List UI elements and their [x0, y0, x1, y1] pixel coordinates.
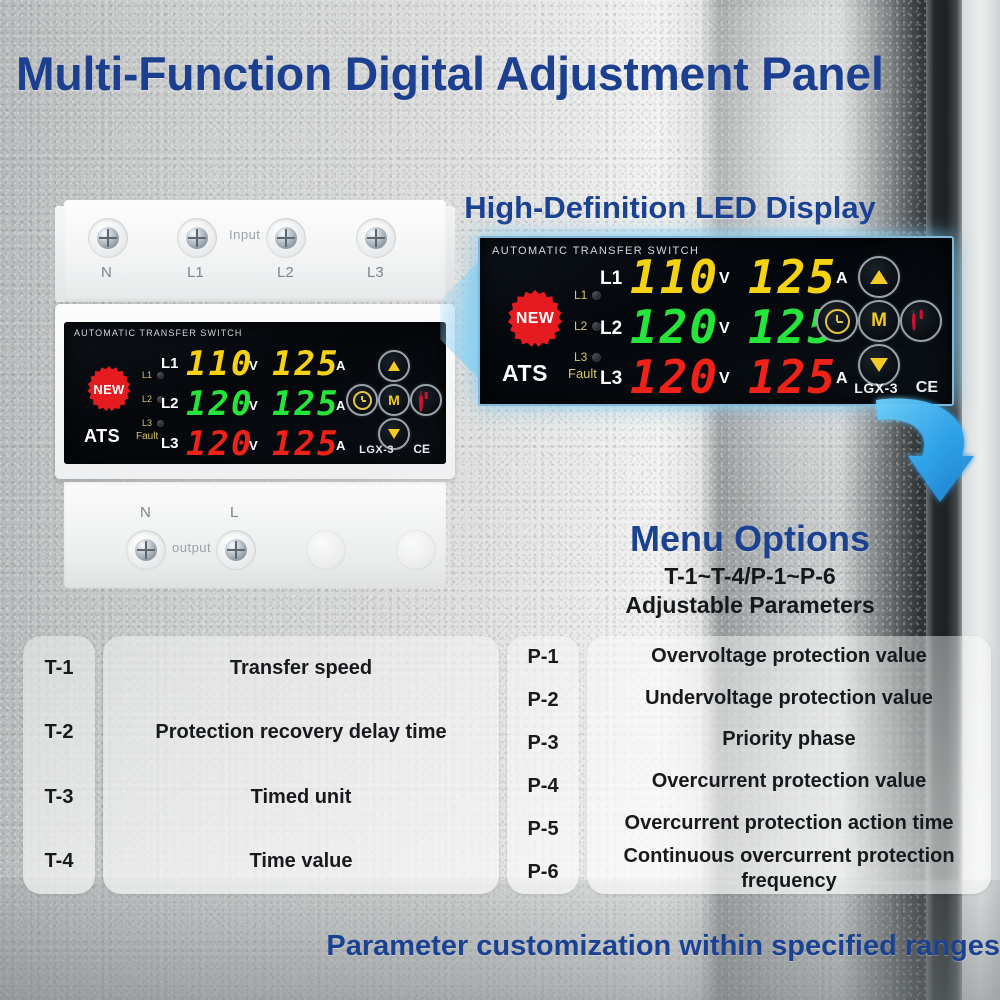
code-cell-t2: T-2 [23, 701, 95, 766]
status-led-icon [592, 353, 601, 362]
code-cell-p3: P-3 [507, 722, 579, 765]
up-arrow-button[interactable] [858, 256, 900, 298]
code-cell-p2: P-2 [507, 679, 579, 722]
input-word-label: Input [229, 227, 260, 242]
voltage-value-l3: 120 [630, 350, 719, 404]
voltage-value-l3-small: 120 [186, 424, 253, 464]
footer-note: Parameter customization within specified… [12, 930, 1000, 963]
phase-indicator-label: L1 [142, 370, 152, 380]
current-value-l1: 125 [748, 250, 837, 304]
voltage-unit-l3: V [719, 370, 730, 388]
phase-indicator-label: L2 [142, 394, 152, 404]
code-cell-t3: T-3 [23, 765, 95, 830]
desc-cell-p4: Overcurrent protection value [587, 761, 991, 803]
row-tag-l3-small: L3 [161, 435, 179, 452]
device-input-section: Input N L1 L2 L3 [64, 200, 446, 302]
chevron-up-icon [388, 361, 400, 371]
input-terminal-l2[interactable] [266, 218, 306, 258]
current-unit-l1-small: A [336, 358, 345, 373]
desc-cell-p1: Overvoltage protection value [587, 636, 991, 678]
chevron-up-icon [870, 270, 888, 284]
current-unit-l2-small: A [336, 398, 345, 413]
protection-code-column: P-1 P-2 P-3 P-4 P-5 P-6 [507, 636, 579, 894]
row-tag-l3: L3 [600, 368, 622, 390]
row-tag-l1-small: L1 [161, 355, 179, 372]
output-word-label: output [172, 540, 211, 555]
status-led-icon [592, 291, 601, 300]
menu-button[interactable]: M [858, 300, 900, 342]
output-label-l: L [230, 504, 238, 521]
code-cell-p6: P-6 [507, 851, 579, 894]
screw-head-icon [275, 227, 297, 249]
phase-indicator-l3: L3 [574, 350, 601, 364]
voltage-value-l1-small: 110 [186, 344, 253, 384]
ats-label-small: ATS [84, 426, 120, 447]
desc-cell-t1: Transfer speed [103, 636, 499, 701]
screw-head-icon [97, 227, 119, 249]
voltage-unit-l2-small: V [249, 398, 258, 413]
output-terminal-n[interactable] [126, 530, 166, 570]
menu-options-subtext: T-1~T-4/P-1~P-6 Adjustable Parameters [560, 562, 940, 620]
panel-header-small: AUTOMATIC TRANSFER SWITCH [74, 328, 243, 338]
adjustable-params-line: Adjustable Parameters [560, 591, 940, 620]
voltage-value-l2-small: 120 [186, 384, 253, 424]
phase-indicator-label: L3 [574, 350, 587, 364]
power-button-small[interactable] [410, 384, 442, 416]
phase-indicator-label: L2 [574, 319, 587, 333]
power-icon [419, 393, 433, 407]
status-led-icon [157, 420, 164, 427]
phase-indicator-label: L1 [574, 288, 587, 302]
menu-m-icon: M [871, 310, 887, 332]
row-tag-l1: L1 [600, 268, 622, 290]
model-label-small: LGX-3 [359, 444, 394, 456]
current-value-l3-small: 125 [272, 424, 339, 464]
output-label-n: N [140, 504, 151, 521]
blank-hole-1 [306, 530, 346, 570]
ats-device: Input N L1 L2 L3 AUTOMATIC TRANSFER SWIT… [55, 200, 455, 590]
desc-cell-t4: Time value [103, 830, 499, 895]
current-value-l2-small: 125 [272, 384, 339, 424]
new-badge: NEW [506, 290, 564, 348]
phase-indicator-l3-small: L3 [142, 418, 164, 428]
chevron-down-icon [388, 429, 400, 439]
voltage-value-l2: 120 [630, 300, 719, 354]
code-cell-t4: T-4 [23, 830, 95, 895]
status-led-icon [157, 372, 164, 379]
menu-range-line: T-1~T-4/P-1~P-6 [560, 562, 940, 591]
timer-button-small[interactable] [346, 384, 378, 416]
page-title: Multi-Function Digital Adjustment Panel [16, 46, 969, 101]
current-unit-l1: A [836, 270, 848, 288]
code-cell-p5: P-5 [507, 808, 579, 851]
desc-cell-t3: Timed unit [103, 765, 499, 830]
phase-indicator-l2: L2 [574, 319, 601, 333]
voltage-unit-l3-small: V [249, 438, 258, 453]
menu-options-heading: Menu Options [570, 518, 930, 560]
timer-description-column: Transfer speed Protection recovery delay… [103, 636, 499, 894]
current-value-l3: 125 [748, 350, 837, 404]
voltage-unit-l1-small: V [249, 358, 258, 373]
screw-head-icon [135, 539, 157, 561]
output-terminal-l[interactable] [216, 530, 256, 570]
menu-m-icon: M [388, 392, 400, 408]
desc-cell-t2: Protection recovery delay time [103, 701, 499, 766]
curved-arrow-icon [862, 394, 982, 514]
screw-head-icon [225, 539, 247, 561]
new-badge-small: NEW [86, 366, 132, 412]
infographic-root: Multi-Function Digital Adjustment Panel … [0, 0, 1000, 1000]
screw-head-icon [186, 227, 208, 249]
timer-button[interactable] [816, 300, 858, 342]
fault-label: Fault [568, 366, 597, 381]
menu-button-small[interactable]: M [378, 384, 410, 416]
input-terminal-n[interactable] [88, 218, 128, 258]
voltage-unit-l2: V [719, 320, 730, 338]
input-terminal-l3[interactable] [356, 218, 396, 258]
desc-cell-p3: Priority phase [587, 719, 991, 761]
voltage-unit-l1: V [719, 270, 730, 288]
power-icon [912, 312, 931, 331]
code-cell-p1: P-1 [507, 636, 579, 679]
led-display-heading: High-Definition LED Display [455, 190, 885, 226]
ce-mark-small: CE [413, 442, 430, 456]
input-terminal-l1[interactable] [177, 218, 217, 258]
desc-cell-p2: Undervoltage protection value [587, 678, 991, 720]
phase-indicator-label: L3 [142, 418, 152, 428]
timer-code-column: T-1 T-2 T-3 T-4 [23, 636, 95, 894]
fault-label-small: Fault [136, 431, 158, 442]
protection-description-column: Overvoltage protection value Undervoltag… [587, 636, 991, 894]
device-display-section: AUTOMATIC TRANSFER SWITCH NEW L1 L2 L3 A… [55, 304, 455, 479]
input-label-l1: L1 [187, 264, 204, 281]
power-button[interactable] [900, 300, 942, 342]
up-arrow-button-small[interactable] [378, 350, 410, 382]
blank-hole-2 [396, 530, 436, 570]
desc-cell-p6: Continuous overcurrent protection freque… [587, 844, 991, 894]
input-label-n: N [101, 264, 112, 281]
led-display-zoom-panel: AUTOMATIC TRANSFER SWITCH NEW L1 L2 L3 A… [478, 236, 954, 406]
input-label-l2: L2 [277, 264, 294, 281]
voltage-value-l1: 110 [630, 250, 719, 304]
device-led-panel: AUTOMATIC TRANSFER SWITCH NEW L1 L2 L3 A… [64, 322, 446, 464]
code-cell-t1: T-1 [23, 636, 95, 701]
current-value-l1-small: 125 [272, 344, 339, 384]
current-unit-l3: A [836, 370, 848, 388]
current-unit-l3-small: A [336, 438, 345, 453]
ats-label: ATS [502, 360, 548, 387]
desc-cell-p5: Overcurrent protection action time [587, 802, 991, 844]
clock-icon [353, 391, 372, 410]
row-tag-l2-small: L2 [161, 395, 179, 412]
row-tag-l2: L2 [600, 318, 622, 340]
device-output-section: N L output [64, 482, 446, 588]
chevron-down-icon [870, 358, 888, 372]
phase-indicator-l1: L1 [574, 288, 601, 302]
screw-head-icon [365, 227, 387, 249]
input-label-l3: L3 [367, 264, 384, 281]
code-cell-p4: P-4 [507, 765, 579, 808]
clock-icon [825, 309, 850, 334]
